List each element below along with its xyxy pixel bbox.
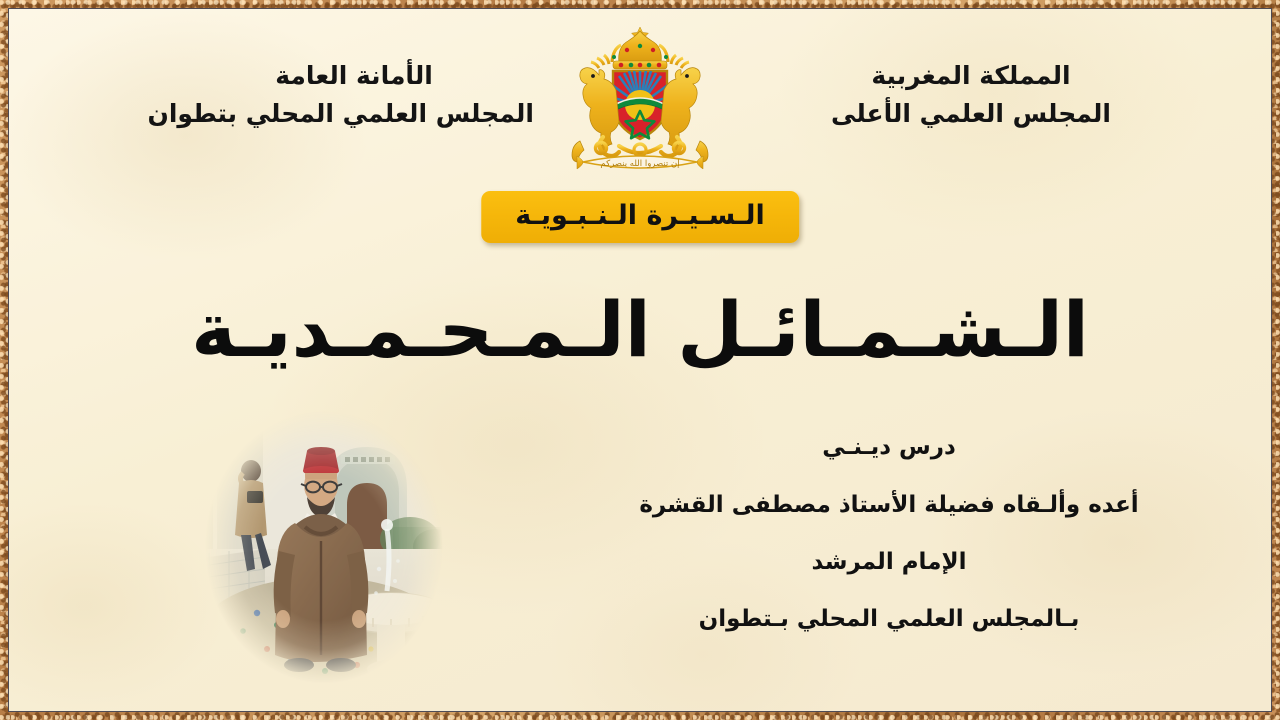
header-band: المملكة المغربية المجلس العلمي الأعلى ال… [9, 51, 1271, 161]
header-left-line2: المجلس العلمي المحلي بتطوان [174, 95, 534, 133]
speaker-photograph [195, 399, 453, 695]
credits-block: درس ديـنـي أعده وألـقاه فضيلة الأستاذ مص… [579, 433, 1199, 633]
slide-outer-frame: المملكة المغربية المجلس العلمي الأعلى ال… [0, 0, 1280, 720]
header-right-block: المملكة المغربية المجلس العلمي الأعلى [831, 57, 1111, 133]
crown-part [612, 27, 668, 69]
header-left-block: الأمانة العامة المجلس العلمي المحلي بتطو… [174, 57, 534, 133]
header-right-line1: المملكة المغربية [831, 57, 1111, 95]
motto-ribbon: إن تنصروا الله ينصركم [577, 156, 703, 169]
header-right-line2: المجلس العلمي الأعلى [831, 95, 1111, 133]
credit-line-affiliation: بـالمجلس العلمي المحلي بـتطوان [579, 605, 1199, 633]
credit-line-author: أعده وألـقاه فضيلة الأستاذ مصطفى القشرة [579, 491, 1199, 519]
shield-part [610, 69, 670, 139]
page-title: الـشـمـائـل الـمـحـمـديـة [9, 287, 1271, 372]
header-left-line1: الأمانة العامة [174, 57, 534, 95]
credit-line-lesson-type: درس ديـنـي [579, 433, 1199, 461]
moroccan-coat-of-arms-icon: إن تنصروا الله ينصركم [555, 19, 725, 181]
motto-text: إن تنصروا الله ينصركم [600, 159, 679, 169]
slide-canvas: المملكة المغربية المجلس العلمي الأعلى ال… [9, 9, 1271, 711]
credit-line-role: الإمام المرشد [579, 548, 1199, 576]
subject-badge[interactable]: الـسـيـرة الـنـبـويـة [481, 191, 799, 243]
